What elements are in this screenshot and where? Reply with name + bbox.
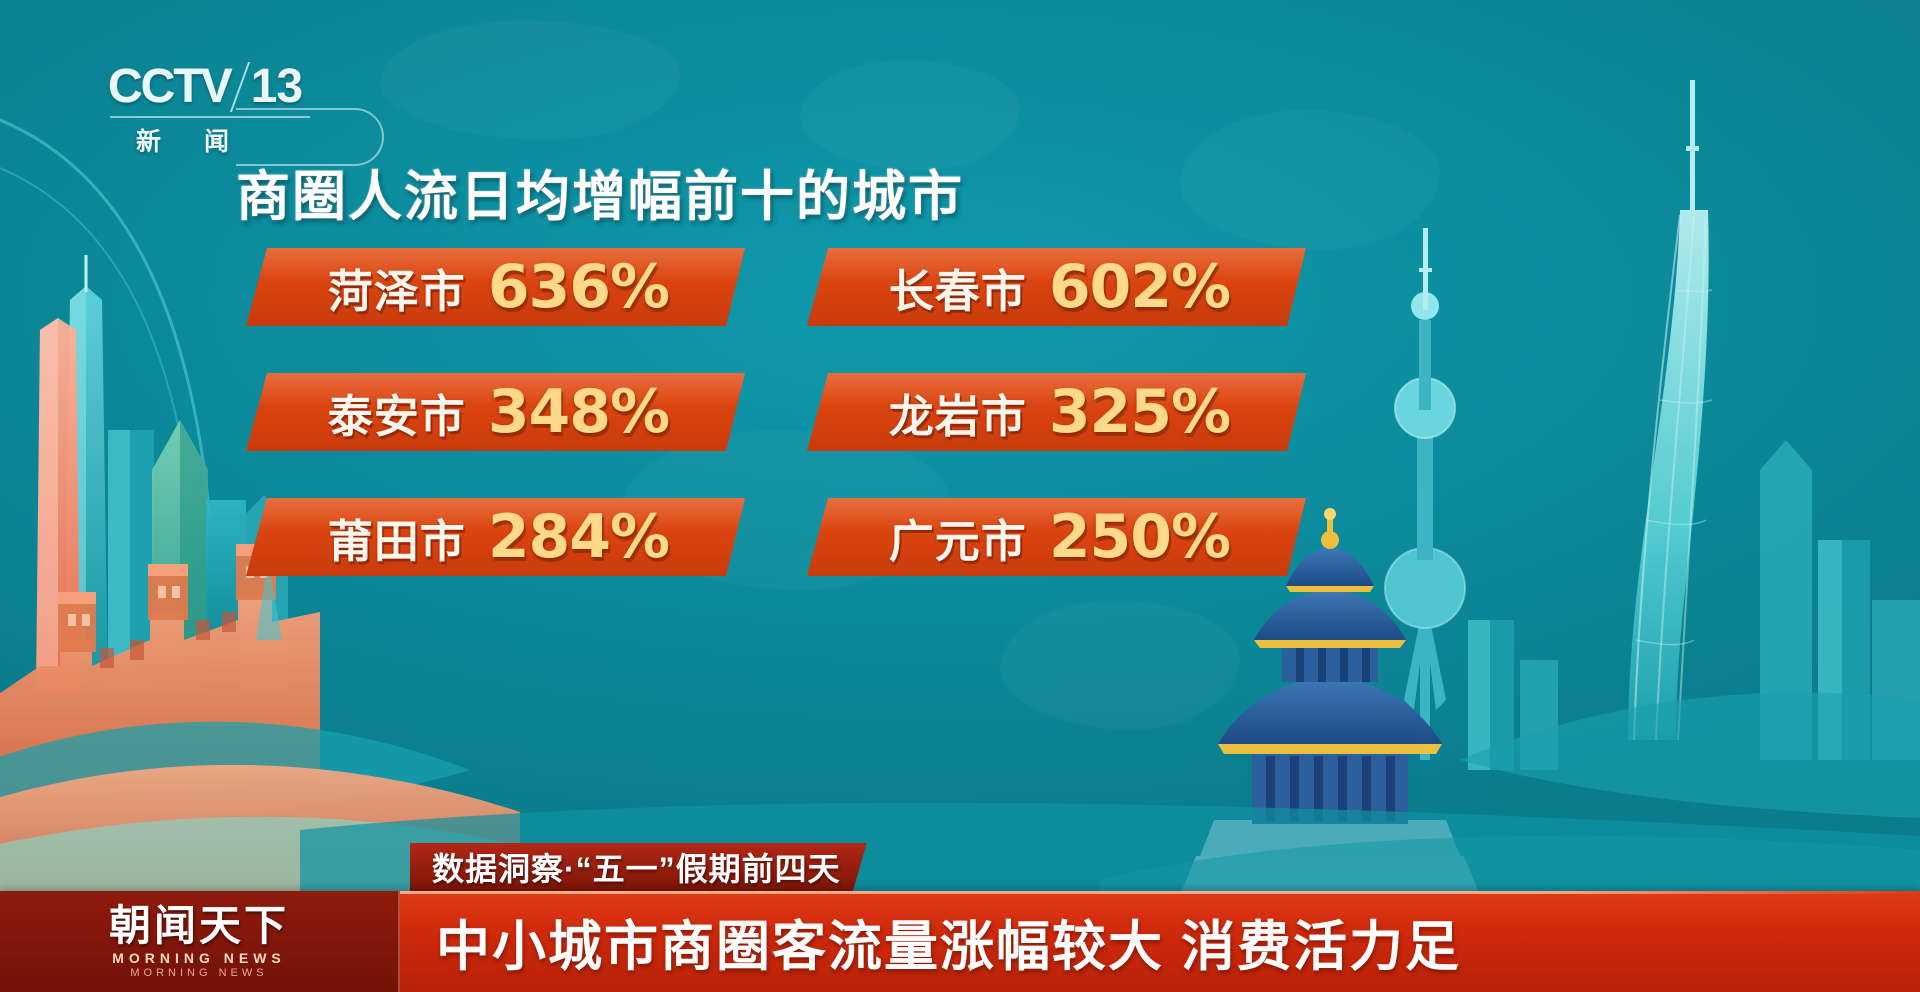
- city-growth-value: 284%: [488, 507, 669, 567]
- city-growth-value: 348%: [488, 382, 669, 442]
- city-name: 广元市: [889, 505, 1027, 570]
- city-name: 菏泽市: [328, 255, 466, 320]
- logo-subtitle: 新 闻: [136, 122, 247, 158]
- lower-third-bar: 朝闻天下 MORNING NEWS MORNING NEWS 中小城市商圈客流量…: [0, 891, 1920, 992]
- sub-banner-text: 数据洞察·“五一”假期前四天: [432, 844, 841, 890]
- broadcast-stage: CCTV 13 新 闻 商圈人流日均增幅前十的城市 菏泽市 636% 长春市: [0, 0, 1920, 992]
- sub-banner: 数据洞察·“五一”假期前四天: [410, 843, 867, 891]
- logo-cctv-text: CCTV: [108, 63, 231, 111]
- logo-channel-number: 13: [251, 63, 302, 111]
- city-card: 菏泽市 636%: [246, 248, 745, 326]
- page-title: 商圈人流日均增幅前十的城市: [236, 152, 964, 231]
- logo-underline: [110, 116, 310, 118]
- city-card: 莆田市 284%: [246, 498, 745, 576]
- program-brand-block: 朝闻天下 MORNING NEWS MORNING NEWS: [0, 891, 400, 992]
- card-row: 泰安市 348% 龙岩市 325%: [246, 373, 1306, 451]
- logo-divider: [230, 62, 250, 112]
- city-growth-value: 636%: [488, 257, 669, 317]
- city-card: 广元市 250%: [807, 498, 1306, 576]
- program-name-en-secondary: MORNING NEWS: [130, 967, 267, 979]
- city-growth-value: 250%: [1049, 507, 1230, 567]
- city-ranking-grid: 菏泽市 636% 长春市 602% 泰安市 348%: [246, 248, 1306, 623]
- city-growth-value: 325%: [1049, 382, 1230, 442]
- program-name-cn: 朝闻天下: [109, 904, 289, 948]
- program-name-en: MORNING NEWS: [112, 950, 286, 966]
- news-headline: 中小城市商圈客流量涨幅较大 消费活力足: [400, 902, 1920, 981]
- city-card: 泰安市 348%: [246, 373, 745, 451]
- city-name: 长春市: [889, 255, 1027, 320]
- city-name: 莆田市: [328, 505, 466, 570]
- city-growth-value: 602%: [1049, 257, 1230, 317]
- channel-logo: CCTV 13 新 闻: [108, 58, 378, 150]
- city-name: 龙岩市: [889, 380, 1027, 445]
- city-card: 龙岩市 325%: [807, 373, 1306, 451]
- city-name: 泰安市: [328, 380, 466, 445]
- card-row: 菏泽市 636% 长春市 602%: [246, 248, 1306, 326]
- city-card: 长春市 602%: [807, 248, 1306, 326]
- card-row: 莆田市 284% 广元市 250%: [246, 498, 1306, 576]
